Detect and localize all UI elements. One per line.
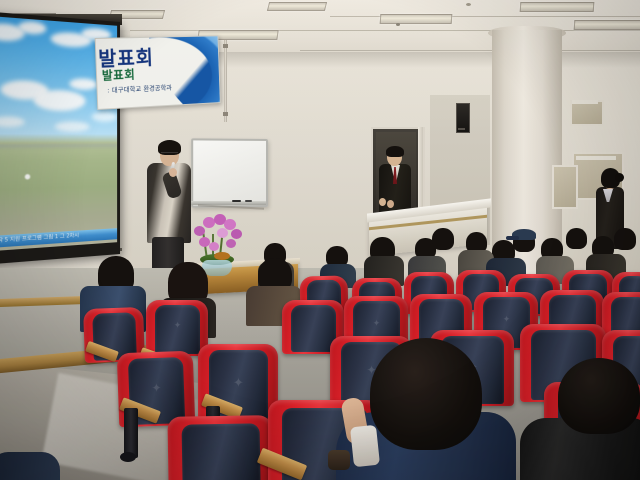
suited-man-hand	[379, 198, 386, 206]
seat-foot	[120, 452, 136, 462]
marker-icon	[232, 200, 241, 202]
attendee-torso	[0, 452, 60, 480]
banner-subtitle: 발표회	[102, 66, 136, 84]
hair-bun	[615, 173, 624, 182]
banner-swoosh-graphic	[146, 35, 220, 110]
audience-head	[566, 228, 587, 249]
rod-bracket	[223, 112, 228, 116]
seat-post	[124, 408, 138, 458]
ceiling-light-icon	[267, 2, 327, 11]
event-banner: 발표회 발표회 : 대구대학교 환경공학과	[95, 35, 221, 110]
ceiling-fitting	[396, 23, 400, 26]
attendee-hair	[370, 338, 482, 450]
suited-man-hair	[386, 146, 404, 157]
notice-board	[552, 165, 578, 209]
ceiling-light-icon	[380, 14, 453, 24]
marker-icon	[245, 200, 252, 202]
ceiling-seam	[330, 16, 640, 17]
lecture-hall-photo: 시작 5 지원 프로그램 그림 1 그 2차시 발표회 발표회 : 대구대학교 …	[0, 0, 640, 480]
whiteboard	[191, 138, 268, 207]
banner-organization: : 대구대학교 환경공학과	[107, 82, 172, 95]
auditorium-seat[interactable]	[167, 415, 272, 480]
ceiling-seam	[300, 50, 640, 51]
audience-head	[614, 228, 636, 250]
projected-highlight	[25, 174, 30, 179]
ceiling-fitting	[466, 3, 471, 6]
orchid-arrangement	[190, 212, 246, 272]
ceiling-light-icon	[520, 2, 595, 12]
presenter-hand	[169, 168, 177, 177]
held-paper	[350, 425, 380, 467]
cap-brim	[506, 236, 519, 240]
attendee-hair	[558, 358, 640, 434]
audience-head	[432, 228, 454, 250]
speaker-bracket	[458, 128, 465, 130]
wristband	[328, 450, 350, 470]
rod-bracket	[223, 44, 228, 48]
notice-board-header	[572, 100, 598, 104]
wall-rod	[224, 40, 227, 122]
ceiling-light-icon	[574, 20, 640, 30]
suited-man-hand	[387, 200, 394, 208]
eyeglasses-icon	[161, 152, 178, 157]
notice-board-header	[576, 156, 616, 160]
